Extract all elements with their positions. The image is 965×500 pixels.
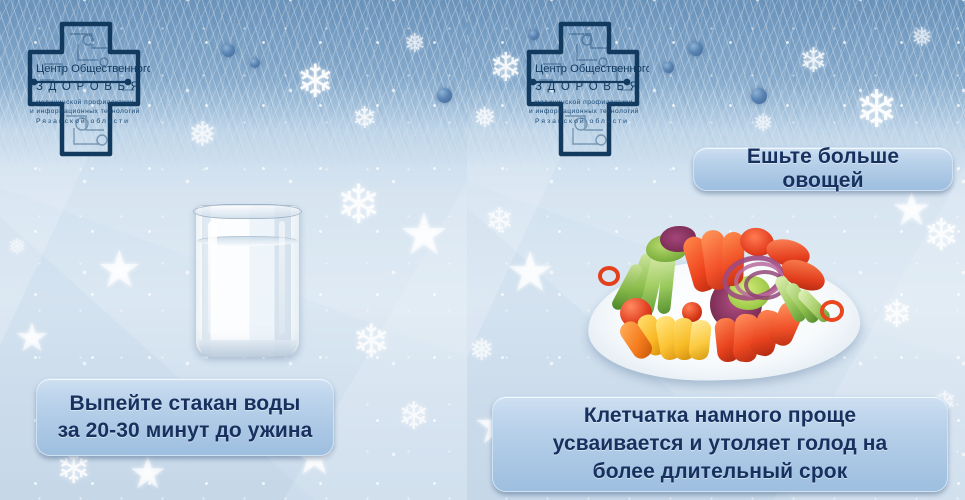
chili-ring (598, 266, 620, 286)
bauble-icon (250, 58, 260, 68)
caption-line-3: более длительный срок (543, 458, 898, 486)
logo-line1: Центр Общественного (36, 63, 150, 75)
caption-line-1: Клетчатка намного проще (543, 402, 898, 430)
caption-line-1: Выпейте стакан воды (48, 390, 323, 417)
glass-base (198, 340, 297, 356)
bauble-icon (663, 62, 674, 73)
logo-line1: Центр Общественного (535, 63, 649, 75)
logo-line2: З Д О Р О В Ь Я (36, 81, 140, 93)
logo-line3: медицинской профилактики (36, 98, 134, 106)
caption-eat-vegetables: Ешьте больше овощей (693, 147, 953, 191)
panel-right: ❄ ❅ ❄ ❄ ❅ ❅ ❄ ❄ ❄ ❅ ❄ ★ ★ ★ ★ ★ ★ (467, 0, 965, 500)
caption-line-2: усваивается и утоляет голод на (543, 430, 898, 458)
bauble-icon (437, 88, 452, 103)
bauble-icon (222, 44, 235, 57)
chili-ring (820, 300, 844, 322)
organization-logo: Центр Общественного З Д О Р О В Ь Я меди… (517, 20, 649, 158)
caption-line-2: за 20-30 минут до ужина (48, 417, 323, 444)
logo-line5: Рязанской области (535, 117, 629, 125)
panel-left: ❄ ❄ ❅ ❅ ❄ ❄ ❄ ❄ ❅ ★ ★ ★ ★ ★ ★ (0, 0, 467, 500)
glass-of-water-image (195, 205, 300, 357)
medical-cross-circuit-logo: Центр Общественного З Д О Р О В Ь Я меди… (517, 20, 649, 158)
caption-drink-water: Выпейте стакан воды за 20-30 минут до уж… (36, 378, 334, 456)
logo-line2: З Д О Р О В Ь Я (535, 81, 639, 93)
glass-highlight (208, 221, 217, 335)
medical-cross-circuit-logo: Центр Общественного З Д О Р О В Ь Я меди… (18, 20, 150, 158)
organization-logo: Центр Общественного З Д О Р О В Ь Я меди… (18, 20, 150, 158)
logo-line3: медицинской профилактики (535, 98, 633, 106)
bauble-icon (689, 42, 703, 56)
logo-line4: и информационных технологий (529, 107, 639, 115)
caption-heading-text: Ешьте больше овощей (694, 145, 952, 193)
glass-highlight (279, 221, 285, 335)
bauble-icon (751, 88, 767, 104)
logo-line4: и информационных технологий (30, 107, 140, 115)
glass-rim (193, 204, 302, 219)
poster-canvas: ❄ ❄ ❅ ❅ ❄ ❄ ❄ ❄ ❅ ★ ★ ★ ★ ★ ★ (0, 0, 965, 500)
vegetable-plate-image (588, 218, 860, 380)
caption-fiber-info: Клетчатка намного проще усваивается и ут… (492, 396, 948, 492)
logo-line5: Рязанской области (36, 117, 130, 125)
